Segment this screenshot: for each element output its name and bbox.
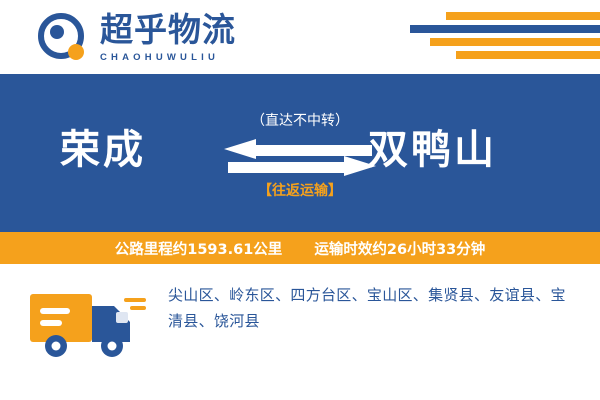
stripe-4 [456,51,600,59]
round-trip-label: 【往返运输】 [220,180,380,200]
logo-inner-dot [50,25,64,39]
route-panel: 荣成 （直达不中转） 【往返运输】 双鸭山 [0,74,600,232]
brand-text: 超乎物流 CHAOHUWULIU [100,12,236,63]
coverage-section: 尖山区、岭东区、四方台区、宝山区、集贤县、友谊县、宝清县、饶河县 [0,264,600,400]
brand-name-cn: 超乎物流 [100,12,236,48]
origin-city: 荣成 [60,126,146,174]
info-bar-text: 公路里程约1593.61公里 运输时效约26小时33分钟 [115,238,486,259]
logo-accent-dot [68,44,84,60]
route-arrow-group: （直达不中转） 【往返运输】 [220,110,380,202]
speed-stripes-icon [390,8,600,66]
circle-q-logo-icon [38,13,90,65]
poster-root: 超乎物流 CHAOHUWULIU 荣成 （直达不中转） 【往返运输】 [0,0,600,400]
stripe-2 [410,25,600,33]
stripe-1 [446,12,600,20]
direct-label: （直达不中转） [220,110,380,130]
brand-name-en: CHAOHUWULIU [100,52,236,63]
distance-text: 公路里程约1593.61公里 [115,242,283,258]
coverage-area-list: 尖山区、岭东区、四方台区、宝山区、集贤县、友谊县、宝清县、饶河县 [168,282,580,334]
stripe-3 [430,38,600,46]
header: 超乎物流 CHAOHUWULIU [0,0,600,74]
double-arrow-left-right-icon [220,136,380,178]
duration-text: 运输时效约26小时33分钟 [314,242,485,258]
info-bar: 公路里程约1593.61公里 运输时效约26小时33分钟 [0,232,600,264]
route-content: 荣成 （直达不中转） 【往返运输】 双鸭山 [0,74,600,232]
delivery-truck-icon [28,282,148,366]
destination-city: 双鸭山 [368,126,497,174]
